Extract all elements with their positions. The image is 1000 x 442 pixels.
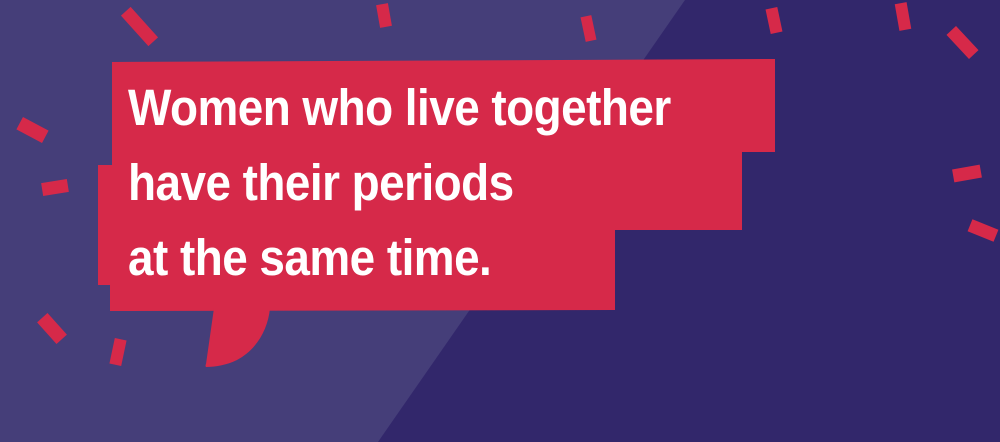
confetti-3 xyxy=(581,15,597,42)
confetti-9 xyxy=(16,117,48,143)
myth-banner: Women who live together have their perio… xyxy=(0,0,1000,442)
confetti-1 xyxy=(121,7,158,46)
speech-bubble-tail xyxy=(206,308,270,367)
confetti-8 xyxy=(968,219,999,242)
quote-line-2: have their periods xyxy=(128,145,722,220)
quote-line-1: Women who live together xyxy=(128,70,722,145)
confetti-5 xyxy=(895,2,912,31)
confetti-2 xyxy=(376,3,392,28)
confetti-11 xyxy=(37,313,67,344)
confetti-10 xyxy=(41,179,69,196)
confetti-6 xyxy=(946,26,978,59)
quote-text-block: Women who live together have their perio… xyxy=(128,70,722,295)
confetti-7 xyxy=(952,165,982,183)
confetti-4 xyxy=(766,7,783,34)
confetti-12 xyxy=(109,338,126,366)
quote-line-3: at the same time. xyxy=(128,220,722,295)
